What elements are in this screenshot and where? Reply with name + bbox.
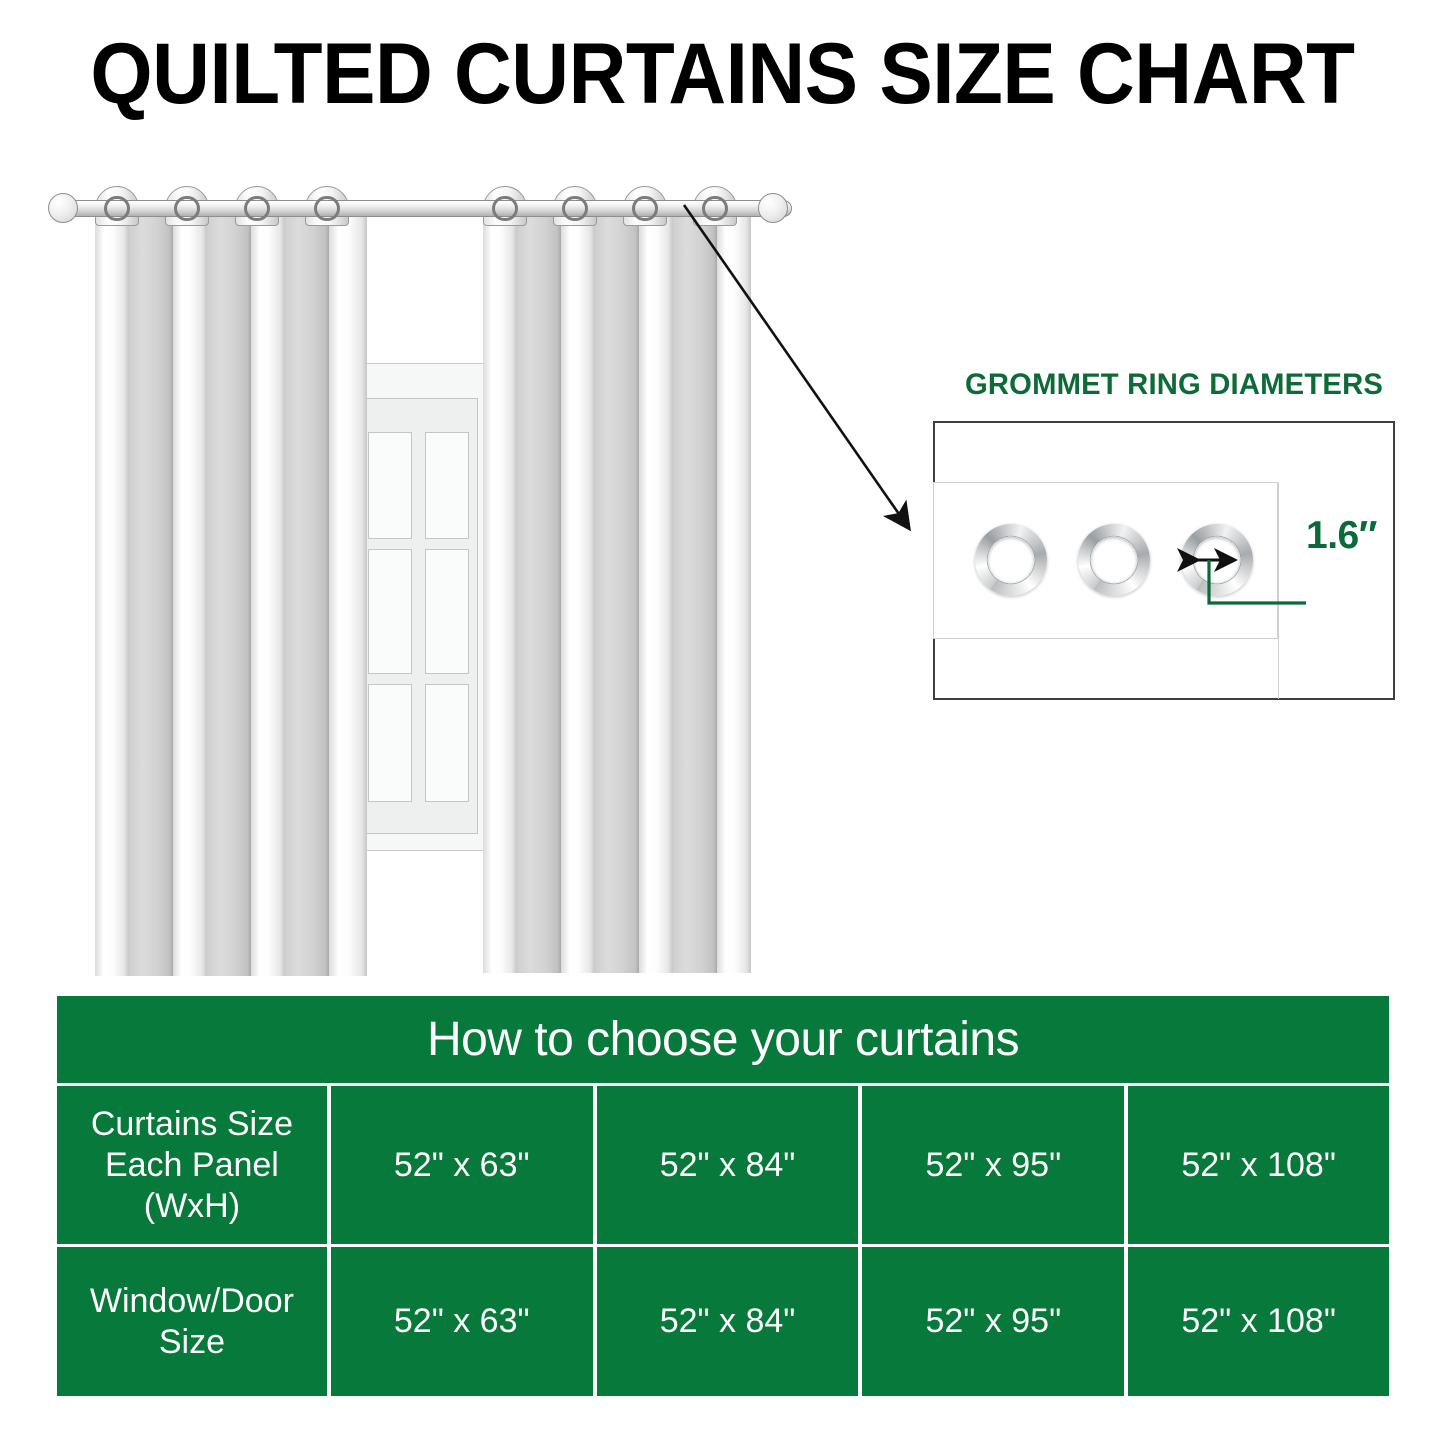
row-label-line: (WxH) [144,1187,240,1225]
size-table: How to choose your curtains Curtains Siz… [57,996,1389,1396]
grommet-ring-on-rod [562,196,588,221]
window-pane [425,684,469,802]
curtain-pleat [285,208,330,976]
dimension-leader-lines [920,360,1420,710]
row-label-line: Each Panel [105,1146,279,1184]
rod-finial-right [758,193,788,223]
grommet-detail-panel: GROMMET RING DIAMETERS 1.6″ [920,360,1420,710]
table-header: How to choose your curtains [57,996,1389,1083]
table-row: Window/Door Size 52" x 63" 52" x 84" 52"… [57,1247,1389,1396]
right-curtain-panel [483,208,751,973]
page-title: QUILTED CURTAINS SIZE CHART [51,26,1395,122]
row-label-window-door-size: Window/Door Size [57,1247,327,1396]
table-row: Curtains Size Each Panel (WxH) 52" x 63"… [57,1086,1389,1244]
size-chart-page: QUILTED CURTAINS SIZE CHART GROM [0,0,1445,1445]
grommet-ring-on-rod [702,196,728,221]
curtain-pleat [95,208,130,976]
table-cell: 52" x 108" [1128,1086,1389,1244]
curtain-pleat [129,208,174,976]
grommet-ring-on-rod [174,196,200,221]
curtain-pleat [517,208,562,973]
window-pane [425,432,469,539]
grommet-ring-on-rod [244,196,270,221]
curtain-pleat [595,208,640,973]
curtain-illustration [0,150,860,980]
grommet-ring-on-rod [492,196,518,221]
curtain-pleat [673,208,718,973]
window-pane [368,549,412,674]
table-cell: 52" x 108" [1128,1247,1389,1396]
curtain-pleat [173,208,208,976]
grommet-ring-on-rod [314,196,340,221]
table-cell: 52" x 84" [597,1247,859,1396]
curtain-pleat [561,208,596,973]
window-pane [368,684,412,802]
curtain-pleat [251,208,286,976]
curtain-pleat [207,208,252,976]
left-curtain-panel [95,208,367,976]
table-cell: 52" x 84" [597,1086,859,1244]
table-cell: 52" x 95" [862,1247,1124,1396]
curtain-pleat [329,208,367,976]
curtain-rod [62,200,792,217]
row-label-line: Size [159,1323,225,1361]
curtain-pleat [483,208,518,973]
table-cell: 52" x 63" [331,1247,593,1396]
row-label-line: Curtains Size [91,1105,293,1143]
grommet-ring-on-rod [104,196,130,221]
row-label-line: Window/Door [90,1282,294,1320]
window-pane [425,549,469,674]
rod-finial-left [48,193,78,223]
table-cell: 52" x 63" [331,1086,593,1244]
table-cell: 52" x 95" [862,1086,1124,1244]
curtain-pleat [639,208,674,973]
curtain-pleat [717,208,751,973]
window-pane [368,432,412,539]
grommet-ring-on-rod [632,196,658,221]
row-label-curtains-size: Curtains Size Each Panel (WxH) [57,1086,327,1244]
